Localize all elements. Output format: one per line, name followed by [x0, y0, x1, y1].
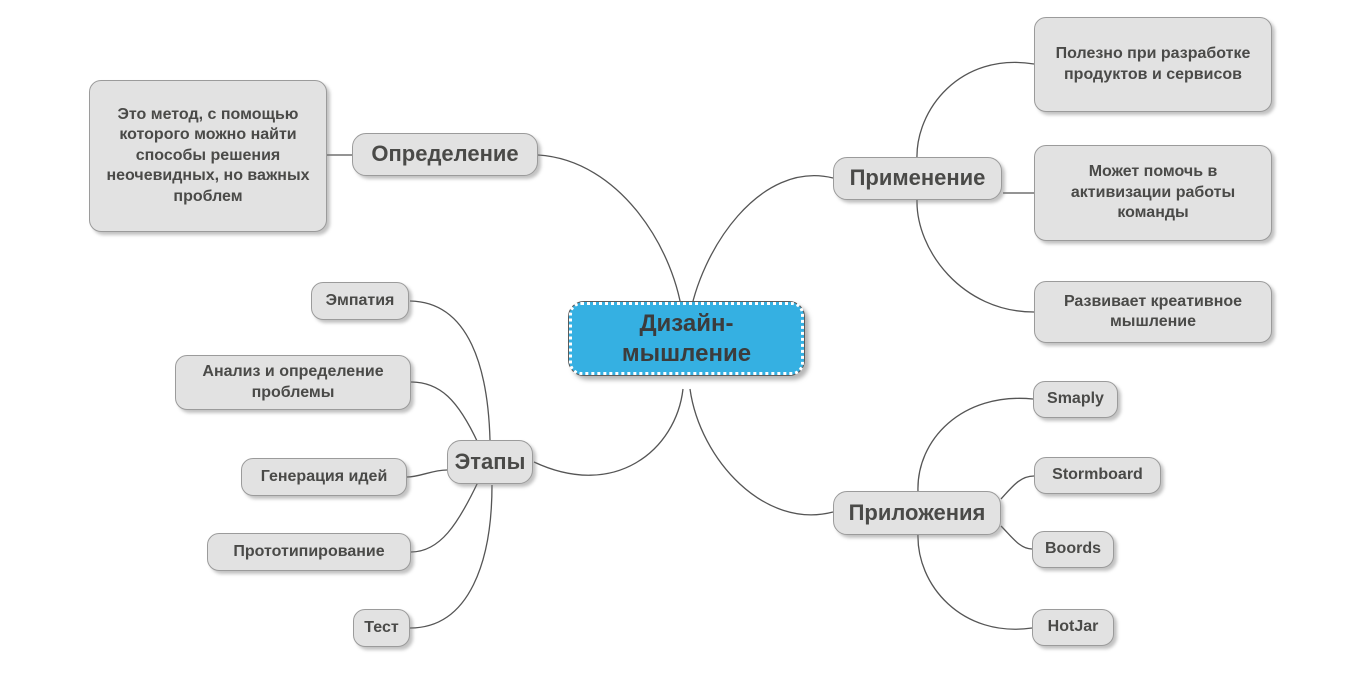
- connector-stages-analysis: [411, 382, 478, 443]
- leaf-label-application-creative: Развивает креативное мышление: [1045, 292, 1261, 333]
- leaf-label-stage-prototyping: Прототипирование: [233, 542, 384, 562]
- connector-apps-stormboard: [1001, 476, 1034, 499]
- connector-application-products: [917, 62, 1034, 160]
- connector-stages-empathy: [410, 301, 490, 440]
- connector-center-application: [689, 176, 833, 320]
- branch-node-apps[interactable]: Приложения: [833, 491, 1001, 535]
- leaf-node-application-creative[interactable]: Развивает креативное мышление: [1034, 281, 1272, 343]
- leaf-node-app-smaply[interactable]: Smaply: [1033, 381, 1118, 418]
- branch-node-application[interactable]: Применение: [833, 157, 1002, 200]
- mindmap-canvas: Дизайн- мышление Определение Это метод, …: [0, 0, 1365, 679]
- connector-stages-ideation: [407, 470, 447, 477]
- leaf-node-stage-analysis[interactable]: Анализ и определение проблемы: [175, 355, 411, 410]
- connector-center-definition: [538, 155, 683, 320]
- leaf-label-app-stormboard: Stormboard: [1052, 465, 1143, 485]
- connector-apps-hotjar: [918, 533, 1032, 629]
- leaf-label-stage-ideation: Генерация идей: [261, 467, 388, 487]
- branch-label-definition: Определение: [371, 140, 518, 168]
- branch-label-apps: Приложения: [849, 499, 986, 527]
- branch-label-stages: Этапы: [455, 448, 526, 476]
- leaf-label-app-boords: Boords: [1045, 539, 1101, 559]
- leaf-node-stage-prototyping[interactable]: Прототипирование: [207, 533, 411, 571]
- leaf-label-app-hotjar: HotJar: [1048, 617, 1099, 637]
- connector-stages-test: [410, 485, 492, 628]
- branch-label-application: Применение: [850, 164, 986, 192]
- leaf-node-app-boords[interactable]: Boords: [1032, 531, 1114, 568]
- leaf-label-application-products: Полезно при разработке продуктов и серви…: [1045, 44, 1261, 85]
- leaf-label-stage-analysis: Анализ и определение проблемы: [186, 362, 400, 403]
- center-node-text: Дизайн- мышление: [622, 309, 751, 369]
- leaf-label-application-team: Может помочь в активизации работы команд…: [1045, 162, 1261, 223]
- center-node-label: Дизайн- мышление: [569, 302, 804, 375]
- leaf-node-app-hotjar[interactable]: HotJar: [1032, 609, 1114, 646]
- leaf-node-stage-ideation[interactable]: Генерация идей: [241, 458, 407, 496]
- leaf-node-stage-test[interactable]: Тест: [353, 609, 410, 647]
- leaf-label-definition-text: Это метод, с помощью которого можно найт…: [100, 105, 316, 207]
- center-node[interactable]: Дизайн- мышление: [568, 301, 805, 376]
- leaf-node-application-team[interactable]: Может помочь в активизации работы команд…: [1034, 145, 1272, 241]
- connector-center-apps: [690, 389, 833, 515]
- leaf-label-app-smaply: Smaply: [1047, 389, 1104, 409]
- branch-node-definition[interactable]: Определение: [352, 133, 538, 176]
- leaf-label-stage-empathy: Эмпатия: [326, 291, 395, 311]
- connector-center-stages: [534, 389, 683, 475]
- leaf-node-definition-text[interactable]: Это метод, с помощью которого можно найт…: [89, 80, 327, 232]
- branch-node-stages[interactable]: Этапы: [447, 440, 533, 484]
- leaf-node-stage-empathy[interactable]: Эмпатия: [311, 282, 409, 320]
- leaf-node-application-products[interactable]: Полезно при разработке продуктов и серви…: [1034, 17, 1272, 112]
- connector-stages-prototyping: [411, 482, 478, 552]
- connector-apps-boords: [1001, 526, 1032, 549]
- connector-apps-smaply: [918, 398, 1033, 492]
- leaf-label-stage-test: Тест: [364, 618, 398, 638]
- connector-application-creative: [917, 200, 1034, 312]
- leaf-node-app-stormboard[interactable]: Stormboard: [1034, 457, 1161, 494]
